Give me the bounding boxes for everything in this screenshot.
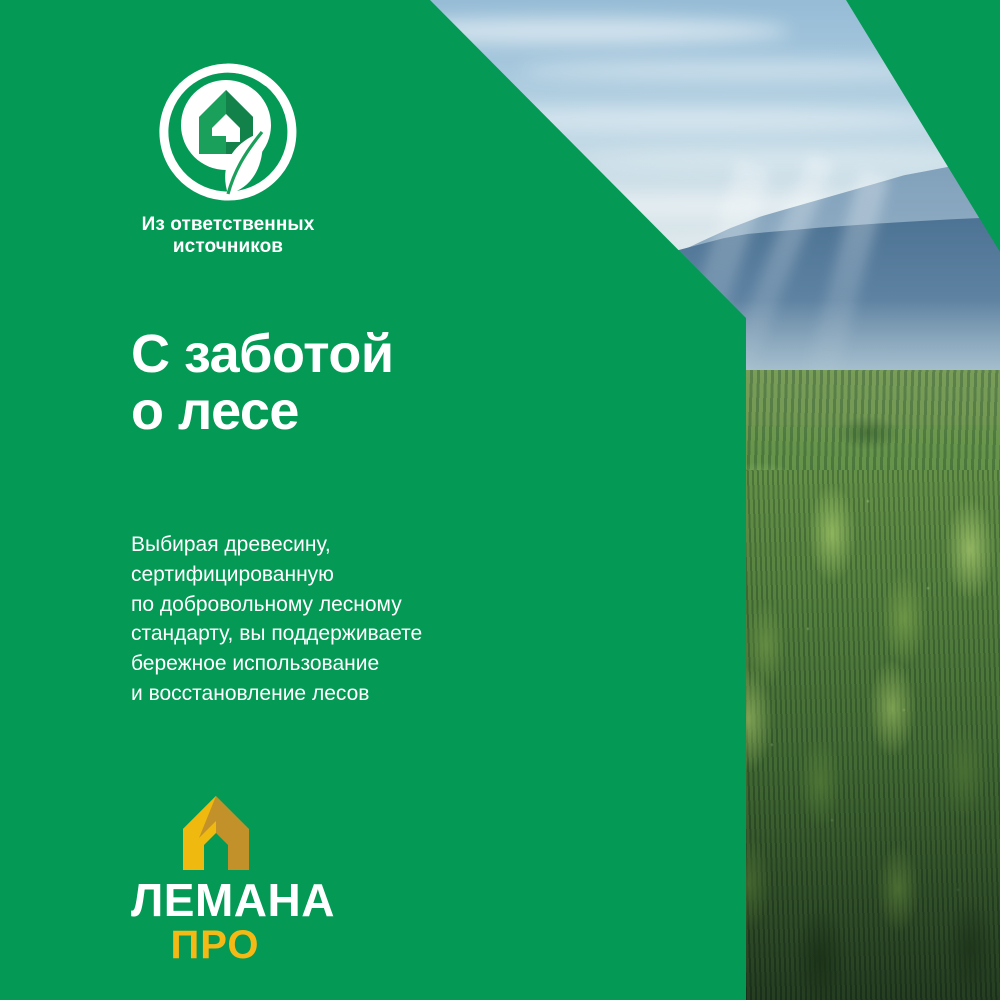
brand-name: ЛЕМАНА	[131, 877, 391, 923]
eco-caption-line-2: источников	[128, 236, 328, 258]
eco-caption-line-1: Из ответственных	[128, 214, 328, 236]
lemana-pro-logo: ЛЕМАНА ПРО	[131, 793, 391, 965]
responsible-sources-mark: Из ответственных источников	[128, 62, 378, 259]
brand-subname: ПРО	[131, 925, 299, 965]
body-paragraph: Выбирая древесину, сертифицированную по …	[131, 530, 422, 709]
poster-root: Из ответственных источников С заботой о …	[0, 0, 1000, 1000]
page-title: С заботой о лесе	[131, 326, 394, 440]
responsible-sources-caption: Из ответственных источников	[128, 214, 328, 259]
content-column: Из ответственных источников С заботой о …	[0, 0, 746, 1000]
house-roof-icon	[173, 793, 259, 873]
house-leaf-circle-icon	[158, 62, 298, 202]
